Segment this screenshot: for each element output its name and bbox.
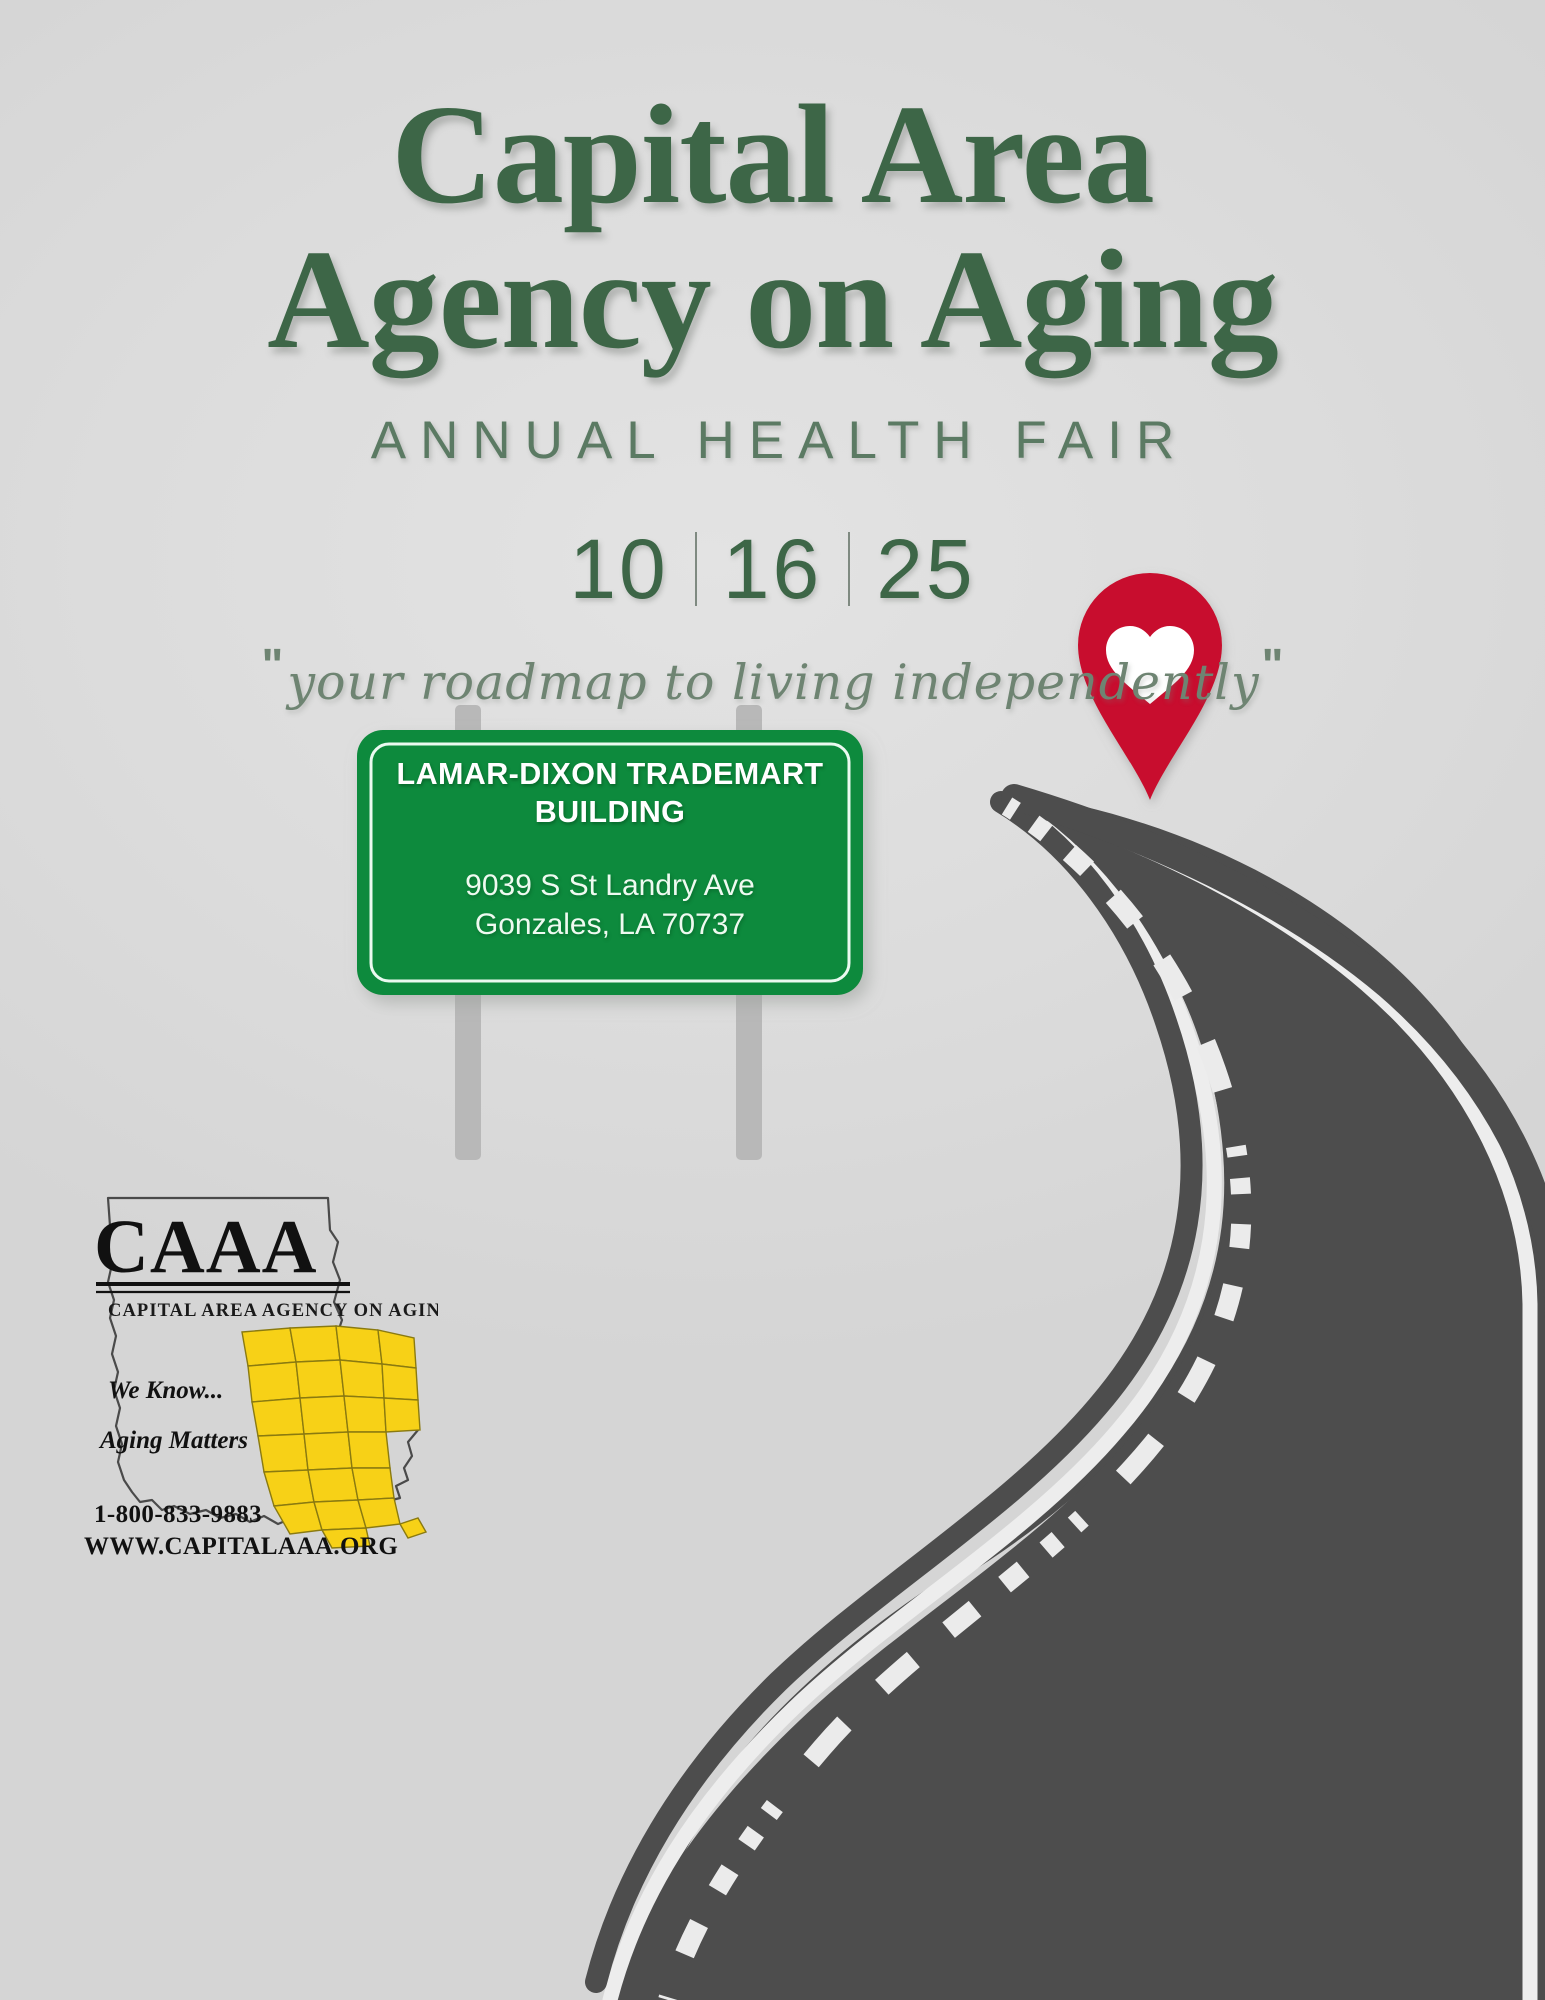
title-line-2: Agency on Aging xyxy=(0,227,1545,372)
logo-acronym: CAAA xyxy=(94,1205,318,1289)
date-day: 16 xyxy=(723,521,822,618)
flyer-poster: Capital Area Agency on Aging ANNUAL HEAL… xyxy=(0,0,1545,2000)
date-year: 25 xyxy=(876,521,975,618)
date-separator-2 xyxy=(848,532,850,606)
logo-full-name: CAPITAL AREA AGENCY ON AGING xyxy=(108,1301,438,1321)
date-month: 10 xyxy=(569,521,668,618)
event-date: 10 16 25 xyxy=(0,521,1545,618)
quote-close: " xyxy=(1262,639,1284,691)
logo-tagline-line-2: Aging Matters xyxy=(98,1427,248,1454)
event-tagline: "your roadmap to living independently" xyxy=(262,654,1284,711)
header-block: Capital Area Agency on Aging ANNUAL HEAL… xyxy=(0,0,1545,711)
title-line-1: Capital Area xyxy=(391,75,1153,233)
service-area-parishes xyxy=(242,1326,426,1548)
caaa-logo: CAAA CAPITAL AREA AGENCY ON AGING We Kno… xyxy=(78,1180,438,1560)
tagline-text: your roadmap to living independently xyxy=(287,654,1259,711)
logo-tagline-line-1: We Know... xyxy=(108,1377,223,1404)
road-sign-panel xyxy=(357,730,863,995)
event-subtitle: ANNUAL HEALTH FAIR xyxy=(0,410,1545,471)
page-title: Capital Area Agency on Aging xyxy=(0,0,1545,372)
quote-open: " xyxy=(262,639,284,691)
date-separator-1 xyxy=(695,532,697,606)
logo-website: WWW.CAPITALAAA.ORG xyxy=(84,1533,398,1560)
logo-phone: 1-800-833-9883 xyxy=(94,1501,262,1528)
